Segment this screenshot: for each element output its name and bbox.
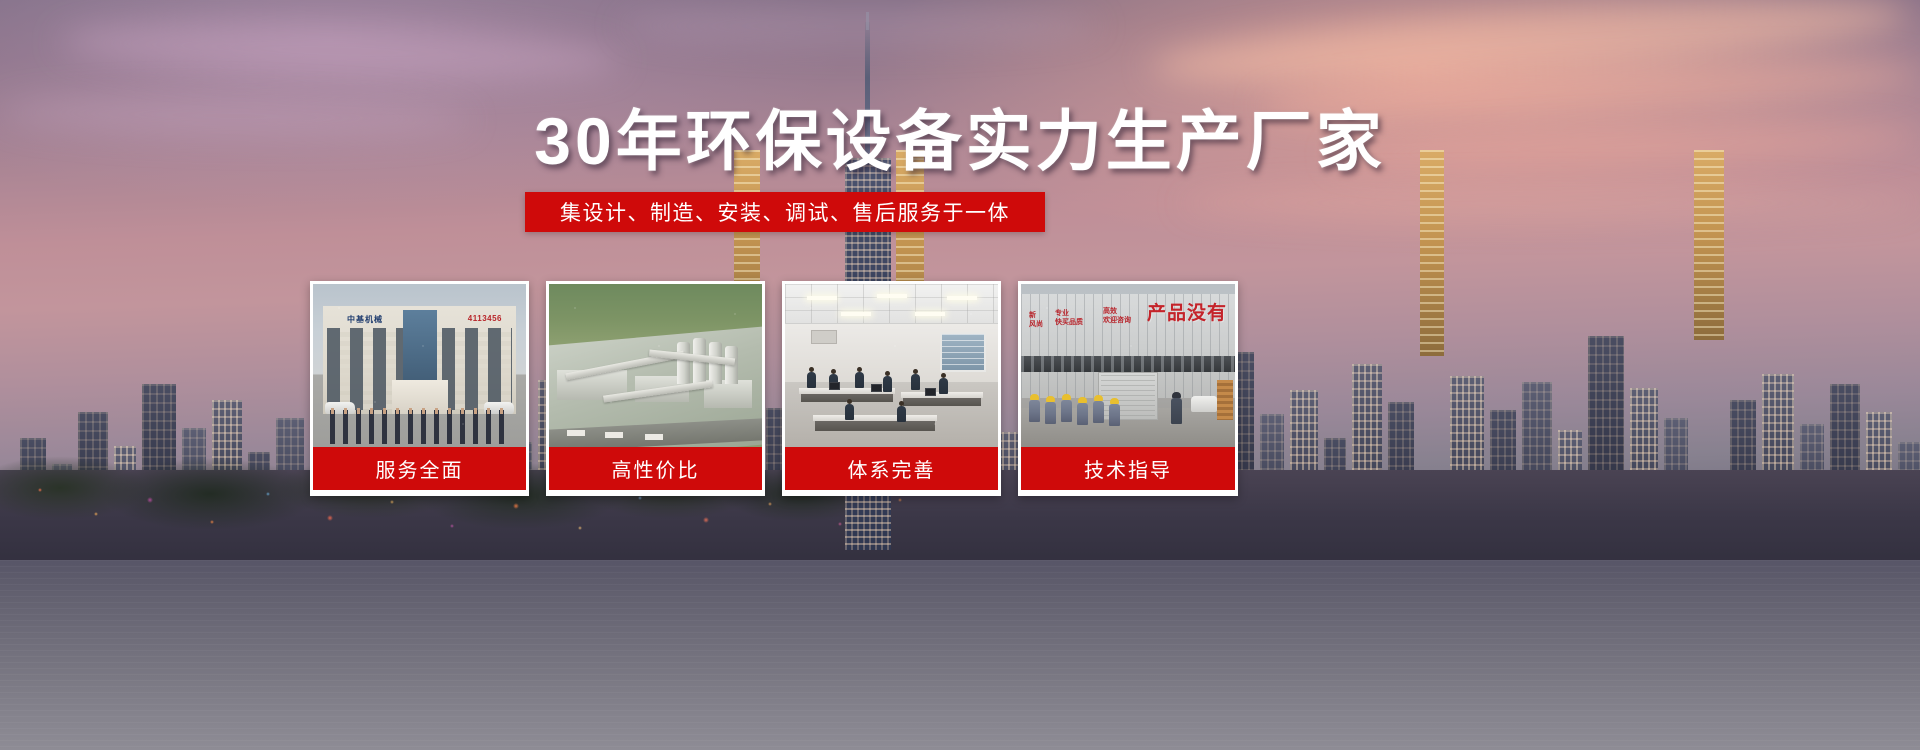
card-label-bar: 高性价比 [549,447,762,490]
card-thumbnail-office-interior [785,284,998,447]
card-label-text: 技术指导 [1084,454,1172,483]
hero-banner: 30年环保设备实力生产厂家 集设计、制造、安装、调试、售后服务于一体 中基机械 … [0,0,1920,750]
building-sign-text: 中基机械 [347,314,383,325]
card-thumbnail-office-building: 中基机械 4113456 [313,284,526,447]
card-label-text: 体系完善 [848,454,936,483]
feature-card-guidance[interactable]: 产品没有 新风尚 专业快买品质 高效欢迎咨询 技术指导 [1018,281,1238,496]
card-label-text: 服务全面 [376,454,464,483]
feature-card-system[interactable]: 体系完善 [782,281,1001,496]
card-thumbnail-factory-workers: 产品没有 新风尚 专业快买品质 高效欢迎咨询 [1021,284,1235,447]
card-label-bar: 技术指导 [1021,447,1235,490]
feature-card-list: 中基机械 4113456 服务全面 [310,281,1552,496]
card-label-bar: 体系完善 [785,447,998,490]
card-label-bar: 服务全面 [313,447,526,490]
building-phone-text: 4113456 [468,314,502,323]
page-title: 30年环保设备实力生产厂家 [0,105,1920,179]
subtitle-banner: 集设计、制造、安装、调试、售后服务于一体 [525,192,1045,232]
feature-card-value[interactable]: 高性价比 [546,281,765,496]
river-water [0,560,1920,750]
card-label-text: 高性价比 [612,454,700,483]
card-thumbnail-aerial-plant [549,284,762,447]
factory-wall-text: 产品没有 [1147,298,1227,325]
subtitle-text: 集设计、制造、安装、调试、售后服务于一体 [560,197,1010,227]
feature-card-service[interactable]: 中基机械 4113456 服务全面 [310,281,529,496]
